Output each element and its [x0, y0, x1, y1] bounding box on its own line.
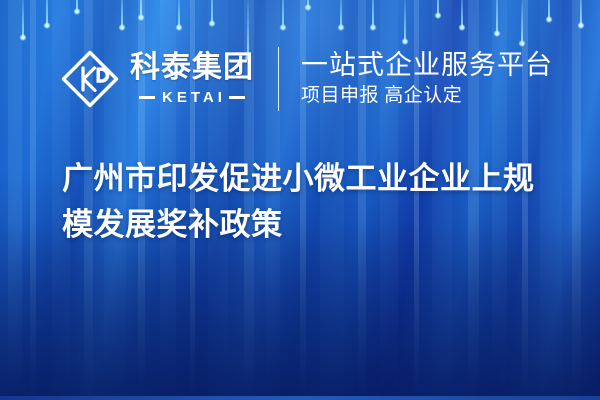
bottom-edge-strip [0, 396, 600, 400]
light-streak-icon [307, 0, 309, 8]
tagline-primary: 一站式企业服务平台 [301, 50, 553, 80]
light-streak-icon [178, 0, 180, 28]
kp-diamond-monogram-icon [60, 49, 120, 109]
light-streak-icon [461, 0, 463, 28]
logo-wordmark: 科泰集团 KETAI [130, 53, 254, 105]
light-streak-icon [548, 0, 550, 20]
logo-english-name-row: KETAI [139, 90, 245, 105]
brand-tagline: 一站式企业服务平台 项目申报 高企认定 [301, 50, 553, 108]
light-streak-icon [46, 0, 48, 26]
light-streak-icon [22, 0, 24, 38]
light-streak-icon [372, 0, 374, 28]
company-logo[interactable]: 科泰集团 KETAI [60, 49, 254, 109]
headline-line-2: 模发展奖补政策 [62, 202, 572, 248]
logo-english-name: KETAI [162, 90, 226, 105]
light-streak-icon [140, 0, 142, 18]
light-streak-icon [580, 0, 582, 26]
light-streak-icon [496, 0, 498, 34]
light-streak-icon [211, 0, 213, 24]
brand-header: 科泰集团 KETAI 一站式企业服务平台 项目申报 高企认定 [0, 38, 600, 120]
light-streak-icon [121, 0, 123, 28]
headline: 广州市印发促进小微工业企业上规 模发展奖补政策 [62, 156, 572, 248]
headline-line-1: 广州市印发促进小微工业企业上规 [62, 156, 572, 202]
light-streak-icon [404, 0, 406, 42]
logo-dash-left-icon [139, 96, 155, 99]
banner-root: 科泰集团 KETAI 一站式企业服务平台 项目申报 高企认定 广州市印发促进小微… [0, 0, 600, 400]
light-streak-icon [437, 0, 439, 16]
light-streak-icon [340, 0, 342, 28]
logo-chinese-name: 科泰集团 [130, 53, 254, 83]
logo-dash-right-icon [229, 96, 245, 99]
light-streak-icon [76, 0, 78, 12]
header-vertical-divider [278, 47, 279, 111]
tagline-secondary: 项目申报 高企认定 [301, 85, 553, 108]
light-streak-icon [282, 0, 284, 28]
